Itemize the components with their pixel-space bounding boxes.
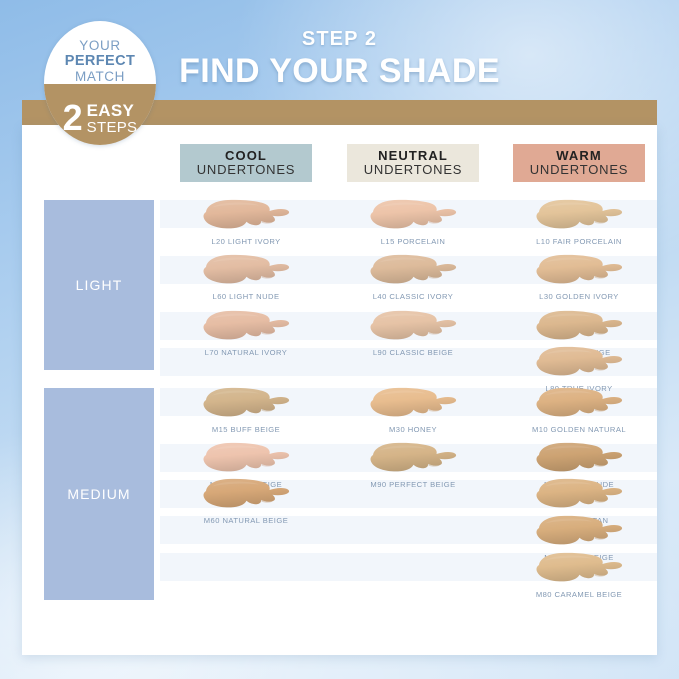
foundation-swatch-icon: [531, 386, 627, 422]
shade-cell[interactable]: M90 PERFECT BEIGE: [347, 441, 479, 497]
column-header-cool: COOL UNDERTONES: [180, 144, 312, 182]
shade-name-label: M60 NATURAL BEIGE: [180, 516, 312, 525]
foundation-swatch-icon: [365, 386, 461, 422]
shade-cell[interactable]: M15 BUFF BEIGE: [180, 386, 312, 442]
shade-cell[interactable]: L60 LIGHT NUDE: [180, 253, 312, 309]
column-header-cool-subtitle: UNDERTONES: [197, 163, 296, 177]
shade-cell[interactable]: L10 FAIR PORCELAIN: [513, 198, 645, 254]
shade-name-label: M10 GOLDEN NATURAL: [513, 425, 645, 434]
shade-name-label: M80 CARAMEL BEIGE: [513, 590, 645, 599]
shade-swatch: [513, 386, 645, 424]
shade-swatch: [513, 477, 645, 515]
foundation-swatch-icon: [198, 198, 294, 234]
foundation-swatch-icon: [198, 309, 294, 345]
shade-swatch: [347, 198, 479, 236]
shade-swatch: [513, 551, 645, 589]
shade-name-label: M30 HONEY: [347, 425, 479, 434]
shade-swatch: [513, 441, 645, 479]
foundation-swatch-icon: [198, 386, 294, 422]
badge-line-3: MATCH: [44, 69, 156, 84]
shade-name-label: L70 NATURAL IVORY: [180, 348, 312, 357]
shade-name-label: L15 PORCELAIN: [347, 237, 479, 246]
badge-steps-text: 2 EASY STEPS: [44, 102, 156, 135]
foundation-swatch-icon: [531, 477, 627, 513]
shade-cell[interactable]: L90 CLASSIC BEIGE: [347, 309, 479, 365]
shade-cell[interactable]: M10 GOLDEN NATURAL: [513, 386, 645, 442]
perfect-match-badge: YOUR PERFECT MATCH 2 EASY STEPS: [44, 21, 156, 145]
shade-swatch: [513, 198, 645, 236]
shade-swatch: [347, 386, 479, 424]
badge-step-number: 2: [63, 102, 83, 134]
shade-cell[interactable]: M80 CARAMEL BEIGE: [513, 551, 645, 607]
shade-swatch: [180, 253, 312, 291]
column-header-cool-title: COOL: [225, 149, 267, 163]
shade-swatch: [347, 309, 479, 347]
shade-cell[interactable]: L20 LIGHT IVORY: [180, 198, 312, 254]
foundation-swatch-icon: [531, 345, 627, 381]
foundation-swatch-icon: [365, 309, 461, 345]
column-header-neutral-subtitle: UNDERTONES: [364, 163, 463, 177]
badge-word-steps: STEPS: [87, 120, 138, 135]
shade-swatch: [513, 514, 645, 552]
shade-swatch: [180, 386, 312, 424]
shade-cell[interactable]: M30 HONEY: [347, 386, 479, 442]
shade-name-label: L30 GOLDEN IVORY: [513, 292, 645, 301]
shade-cell[interactable]: L15 PORCELAIN: [347, 198, 479, 254]
shade-swatch: [513, 345, 645, 383]
shade-cell[interactable]: L40 CLASSIC IVORY: [347, 253, 479, 309]
shade-name-label: L40 CLASSIC IVORY: [347, 292, 479, 301]
column-header-neutral-title: NEUTRAL: [378, 149, 448, 163]
shade-swatch: [347, 253, 479, 291]
column-header-warm-title: WARM: [556, 149, 602, 163]
shade-name-label: M15 BUFF BEIGE: [180, 425, 312, 434]
shade-swatch: [180, 441, 312, 479]
foundation-swatch-icon: [365, 441, 461, 477]
shade-name-label: L60 LIGHT NUDE: [180, 292, 312, 301]
shade-name-label: M90 PERFECT BEIGE: [347, 480, 479, 489]
foundation-swatch-icon: [198, 441, 294, 477]
foundation-swatch-icon: [531, 198, 627, 234]
column-header-warm: WARM UNDERTONES: [513, 144, 645, 182]
column-header-neutral: NEUTRAL UNDERTONES: [347, 144, 479, 182]
badge-step-words: EASY STEPS: [87, 102, 138, 135]
shade-cell[interactable]: L30 GOLDEN IVORY: [513, 253, 645, 309]
badge-word-easy: EASY: [87, 102, 138, 119]
shade-cell[interactable]: L70 NATURAL IVORY: [180, 309, 312, 365]
foundation-swatch-icon: [198, 477, 294, 513]
shade-swatch: [513, 253, 645, 291]
foundation-swatch-icon: [365, 198, 461, 234]
shade-name-label: L10 FAIR PORCELAIN: [513, 237, 645, 246]
shade-swatch: [180, 477, 312, 515]
shade-cell[interactable]: M60 NATURAL BEIGE: [180, 477, 312, 533]
shade-swatch: [513, 309, 645, 347]
shade-swatch: [180, 198, 312, 236]
badge-line-2: PERFECT: [44, 53, 156, 69]
badge-top-text: YOUR PERFECT MATCH: [44, 38, 156, 84]
shade-swatch: [180, 309, 312, 347]
foundation-swatch-icon: [531, 441, 627, 477]
foundation-swatch-icon: [531, 514, 627, 550]
group-label-medium: MEDIUM: [44, 388, 154, 600]
foundation-swatch-icon: [365, 253, 461, 289]
foundation-swatch-icon: [531, 309, 627, 345]
shade-name-label: L20 LIGHT IVORY: [180, 237, 312, 246]
badge-line-1: YOUR: [44, 38, 156, 53]
foundation-swatch-icon: [531, 551, 627, 587]
foundation-swatch-icon: [198, 253, 294, 289]
foundation-swatch-icon: [531, 253, 627, 289]
shade-name-label: L90 CLASSIC BEIGE: [347, 348, 479, 357]
column-header-warm-subtitle: UNDERTONES: [530, 163, 629, 177]
shade-swatch: [347, 441, 479, 479]
group-label-light: LIGHT: [44, 200, 154, 370]
